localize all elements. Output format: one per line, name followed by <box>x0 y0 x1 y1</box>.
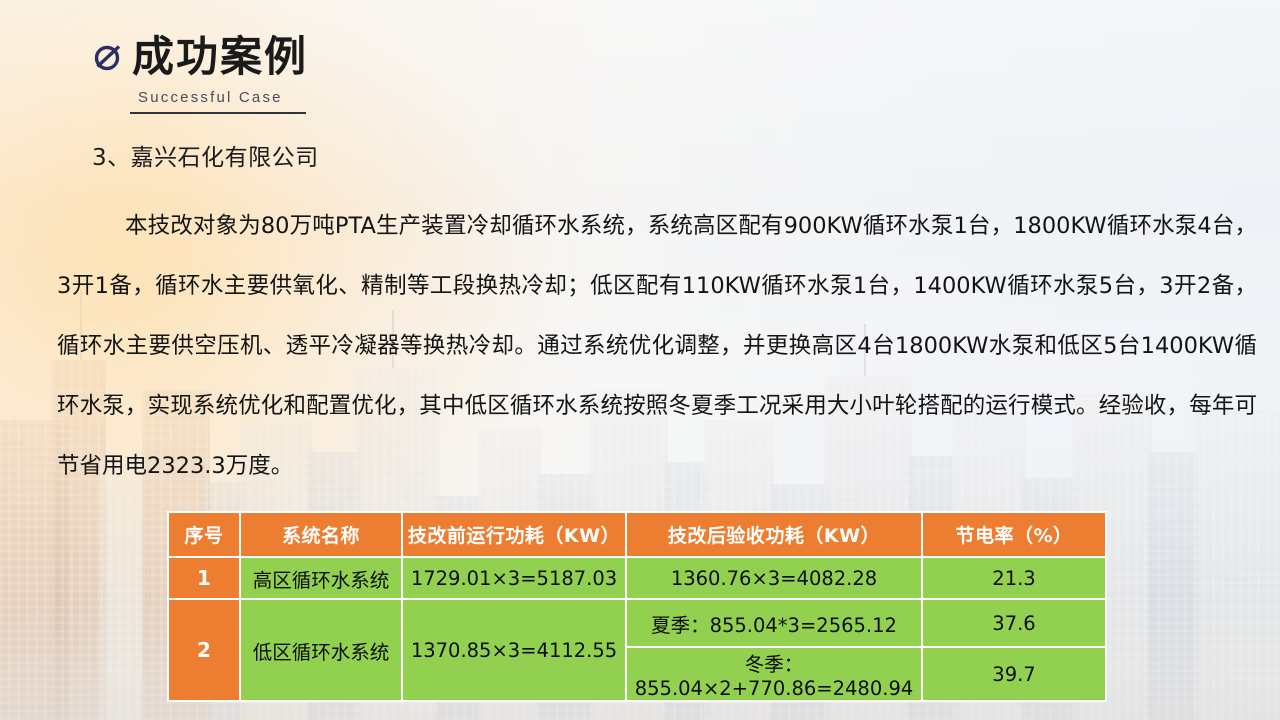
subtitle-wrap: Successful Case <box>92 89 308 106</box>
row1-rate: 21.3 <box>922 557 1106 599</box>
title-underline-rule <box>130 112 306 114</box>
row1-index: 1 <box>168 557 240 599</box>
row2-after-winter: 冬季：855.04×2+770.86=2480.94 <box>626 647 922 701</box>
results-table-wrapper: 序号 系统名称 技改前运行功耗（KW） 技改后验收功耗（KW） 节电率（%） 1… <box>167 511 1105 702</box>
slide-header: 成功案例 Successful Case <box>92 36 308 114</box>
slide-root: 成功案例 Successful Case 3、嘉兴石化有限公司 本技改对象为80… <box>0 0 1280 720</box>
col-header-index: 序号 <box>168 512 240 557</box>
page-subtitle: Successful Case <box>138 89 308 106</box>
body-paragraph: 本技改对象为80万吨PTA生产装置冷却循环水系统，系统高区配有900KW循环水泵… <box>57 196 1257 496</box>
circle-slash-icon <box>92 40 126 74</box>
row1-before: 1729.01×3=5187.03 <box>402 557 626 599</box>
row2-index: 2 <box>168 599 240 701</box>
row2-rate-winter: 39.7 <box>922 647 1106 701</box>
table-row: 2 低区循环水系统 1370.85×3=4112.55 夏季：855.04*3=… <box>168 599 1106 647</box>
row2-after-summer: 夏季：855.04*3=2565.12 <box>626 599 922 647</box>
col-header-after: 技改后验收功耗（KW） <box>626 512 922 557</box>
col-header-system: 系统名称 <box>240 512 402 557</box>
col-header-rate: 节电率（%） <box>922 512 1106 557</box>
row2-rate-summer: 37.6 <box>922 599 1106 647</box>
row1-system: 高区循环水系统 <box>240 557 402 599</box>
section-subheading: 3、嘉兴石化有限公司 <box>92 138 319 172</box>
title-row: 成功案例 <box>92 36 308 78</box>
table-body: 1 高区循环水系统 1729.01×3=5187.03 1360.76×3=40… <box>168 557 1106 701</box>
table-head: 序号 系统名称 技改前运行功耗（KW） 技改后验收功耗（KW） 节电率（%） <box>168 512 1106 557</box>
table-header-row: 序号 系统名称 技改前运行功耗（KW） 技改后验收功耗（KW） 节电率（%） <box>168 512 1106 557</box>
row1-after: 1360.76×3=4082.28 <box>626 557 922 599</box>
row2-before: 1370.85×3=4112.55 <box>402 599 626 701</box>
table-row: 1 高区循环水系统 1729.01×3=5187.03 1360.76×3=40… <box>168 557 1106 599</box>
results-table: 序号 系统名称 技改前运行功耗（KW） 技改后验收功耗（KW） 节电率（%） 1… <box>167 511 1107 702</box>
col-header-before: 技改前运行功耗（KW） <box>402 512 626 557</box>
row2-system: 低区循环水系统 <box>240 599 402 701</box>
page-title: 成功案例 <box>132 36 308 78</box>
